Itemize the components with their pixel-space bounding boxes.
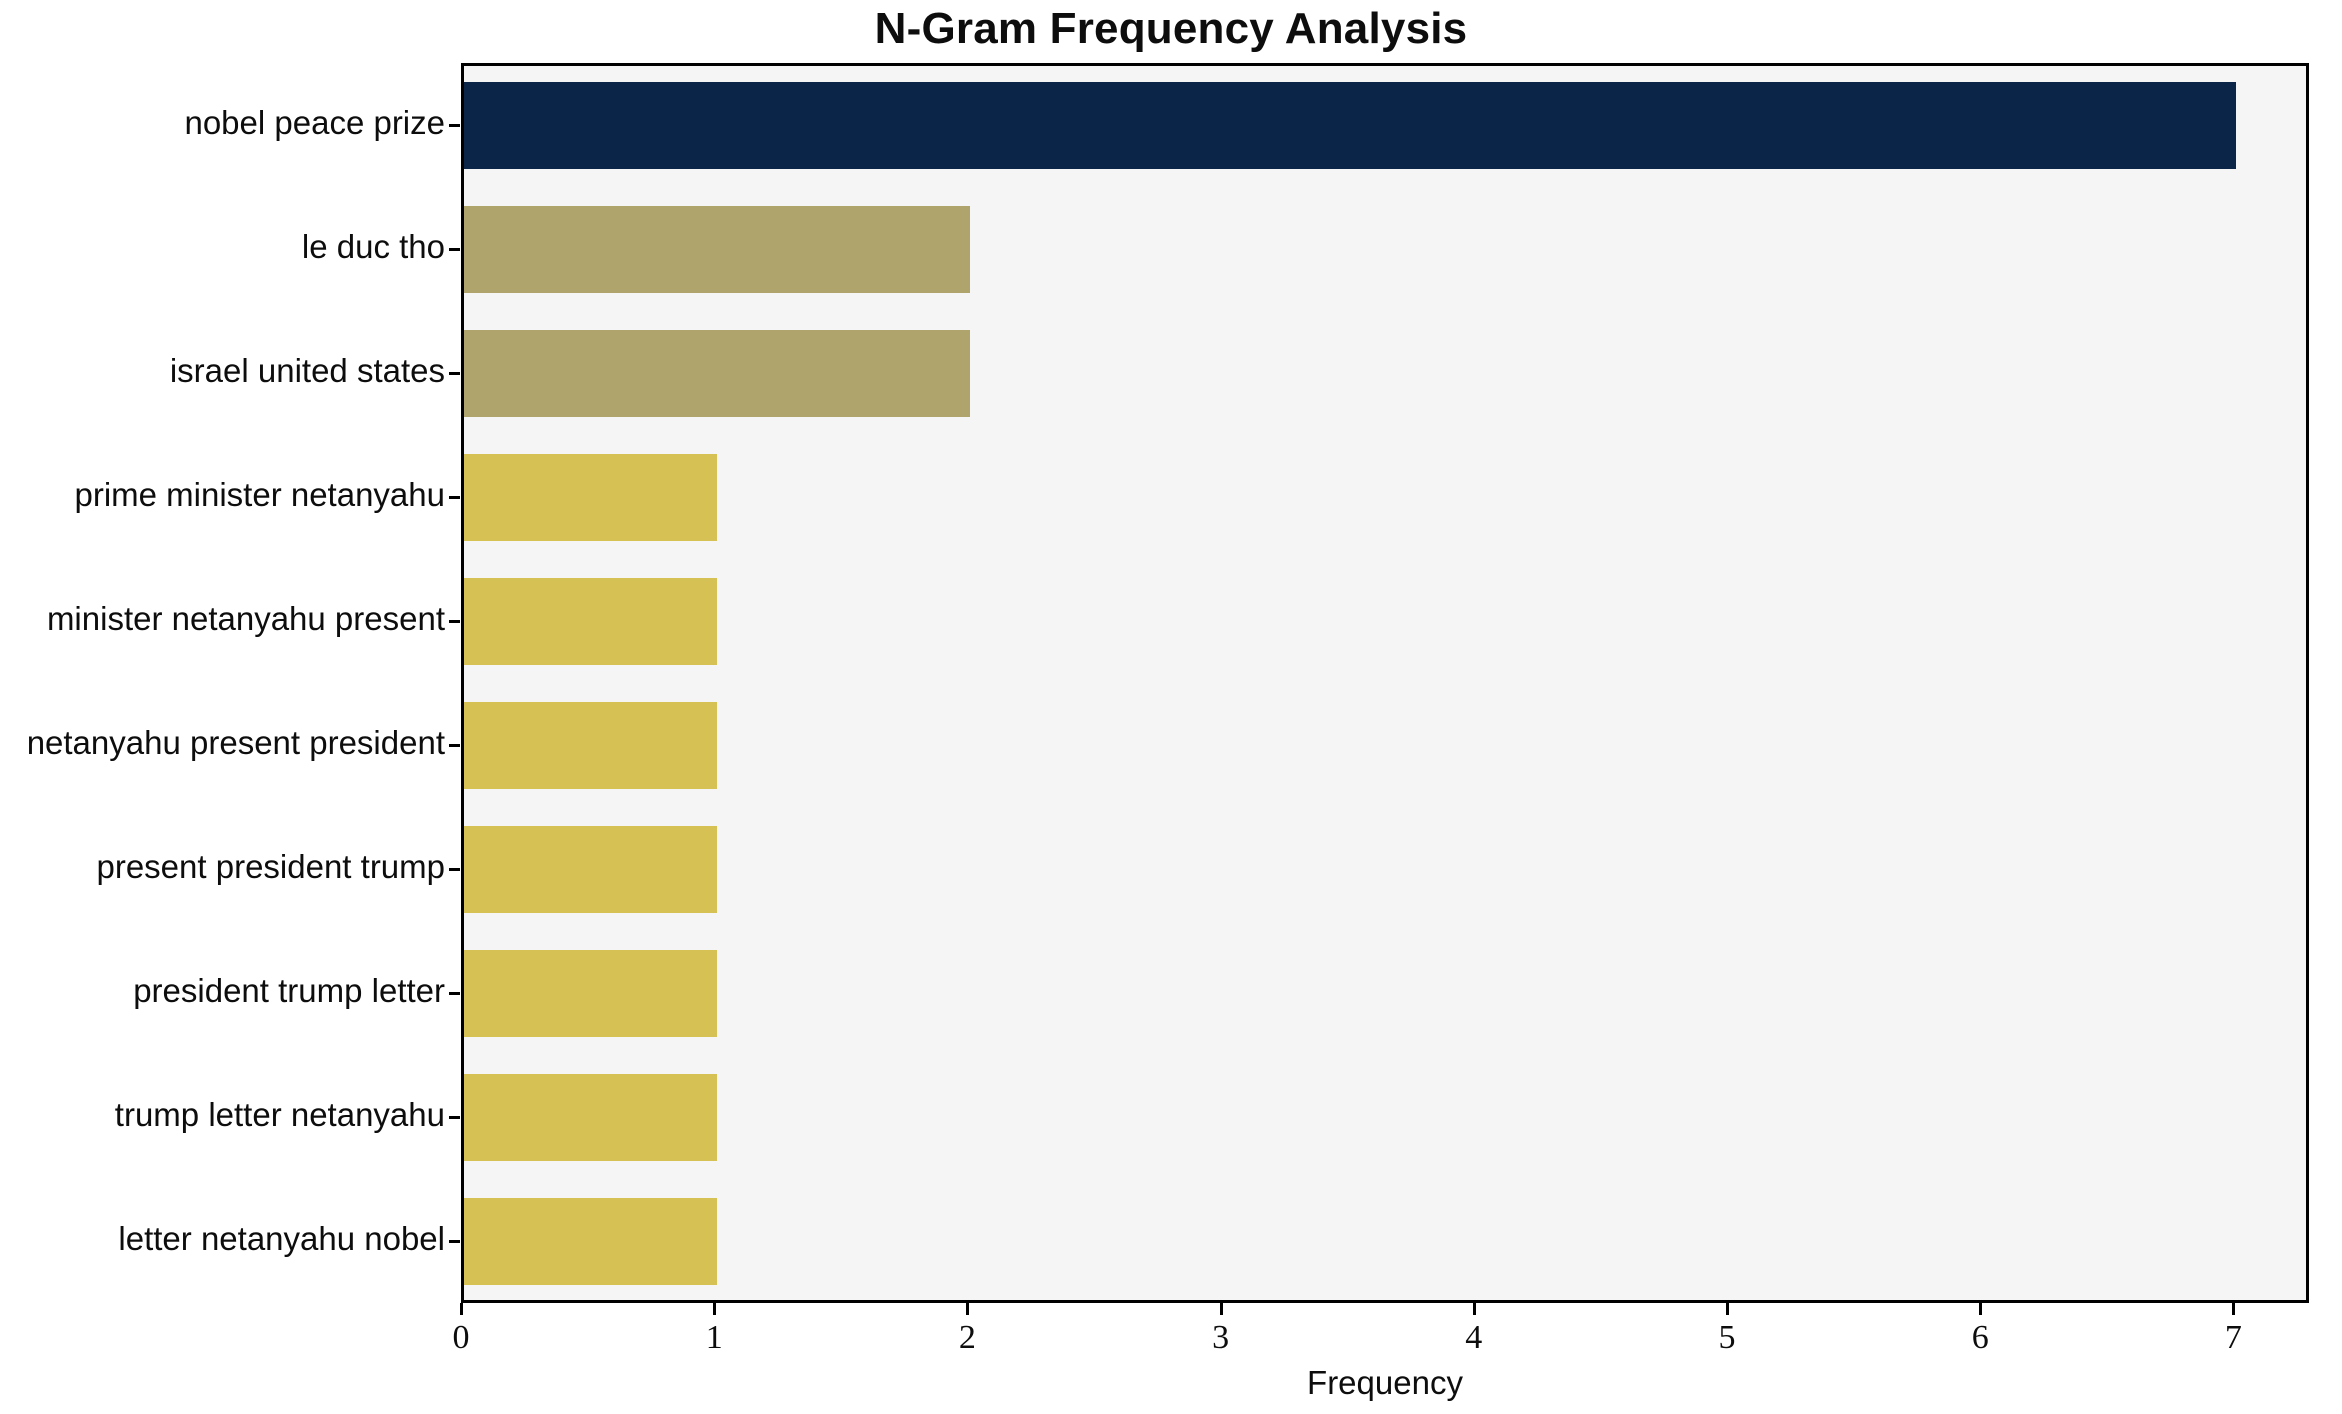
y-axis-tick-mark — [449, 496, 460, 499]
plot-area — [461, 63, 2309, 1303]
y-axis-tick-mark — [449, 744, 460, 747]
x-axis-tick-label: 0 — [421, 1319, 501, 1357]
y-axis-tick-label: president trump letter — [5, 972, 445, 1010]
bar — [464, 950, 717, 1037]
y-axis-tick-mark — [449, 992, 460, 995]
y-axis-tick-label: prime minister netanyahu — [5, 476, 445, 514]
bar — [464, 1198, 717, 1285]
y-axis-tick-label: letter netanyahu nobel — [5, 1220, 445, 1258]
y-axis-tick-mark — [449, 868, 460, 871]
y-axis-tick-label: le duc tho — [5, 228, 445, 266]
x-axis-tick-mark — [713, 1303, 716, 1315]
bar — [464, 206, 970, 293]
bar — [464, 330, 970, 417]
bar — [464, 702, 717, 789]
y-axis-tick-mark — [449, 372, 460, 375]
y-axis-tick-label: israel united states — [5, 352, 445, 390]
y-axis-tick-mark — [449, 1116, 460, 1119]
x-axis-tick-mark — [1473, 1303, 1476, 1315]
y-axis-tick-label: present president trump — [5, 848, 445, 886]
y-axis-tick-label: netanyahu present president — [5, 724, 445, 762]
y-axis-tick-mark — [449, 248, 460, 251]
y-axis-tick-mark — [449, 620, 460, 623]
y-axis-tick-mark — [449, 1240, 460, 1243]
x-axis-tick-mark — [2232, 1303, 2235, 1315]
x-axis-tick-label: 7 — [2193, 1319, 2273, 1357]
bar — [464, 454, 717, 541]
x-axis-tick-label: 5 — [1687, 1319, 1767, 1357]
chart-figure: N-Gram Frequency Analysis nobel peace pr… — [0, 0, 2342, 1414]
x-axis-tick-label: 6 — [1940, 1319, 2020, 1357]
x-axis-title: Frequency — [461, 1364, 2309, 1402]
x-axis-tick-label: 2 — [927, 1319, 1007, 1357]
x-axis-tick-mark — [460, 1303, 463, 1315]
x-axis-tick-label: 3 — [1181, 1319, 1261, 1357]
y-axis-tick-mark — [449, 124, 460, 127]
x-axis-tick-mark — [1726, 1303, 1729, 1315]
y-axis-tick-label: minister netanyahu present — [5, 600, 445, 638]
x-axis-tick-mark — [1220, 1303, 1223, 1315]
x-axis-tick-mark — [966, 1303, 969, 1315]
bar — [464, 1074, 717, 1161]
bar — [464, 578, 717, 665]
bar — [464, 826, 717, 913]
bars-layer — [464, 66, 2306, 1300]
x-axis-tick-label: 4 — [1434, 1319, 1514, 1357]
y-axis-tick-label: trump letter netanyahu — [5, 1096, 445, 1134]
page-title: N-Gram Frequency Analysis — [0, 4, 2342, 54]
y-axis-tick-label: nobel peace prize — [5, 104, 445, 142]
x-axis-tick-mark — [1979, 1303, 1982, 1315]
bar — [464, 82, 2236, 169]
x-axis-tick-label: 1 — [674, 1319, 754, 1357]
